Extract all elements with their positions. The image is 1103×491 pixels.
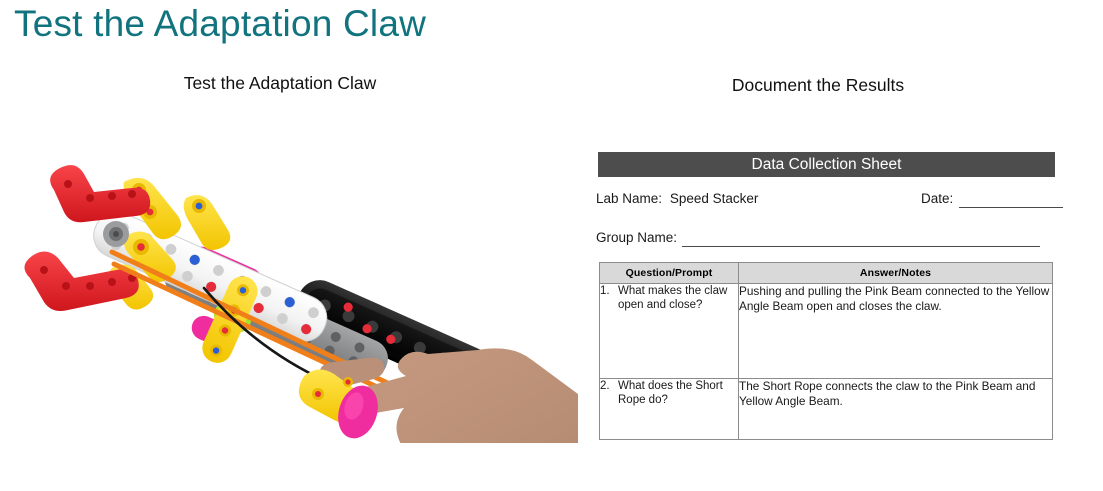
date-field: Date: — [921, 190, 1063, 208]
group-name-label: Group Name: — [596, 230, 677, 245]
group-name-blank-line[interactable] — [682, 233, 1040, 247]
lab-name-value: Speed Stacker — [670, 191, 759, 206]
lego-claw-illustration — [8, 140, 578, 480]
date-label: Date: — [921, 191, 953, 206]
table-row: 2. What does the Short Rope do? The Shor… — [600, 379, 1053, 440]
question-number-2: 2. — [600, 379, 618, 407]
worksheet-banner-title: Data Collection Sheet — [598, 152, 1055, 177]
column-header-question: Question/Prompt — [600, 263, 739, 284]
question-text-1: What makes the claw open and close? — [618, 284, 738, 312]
question-number-1: 1. — [600, 284, 618, 312]
grey-axle-hub-part — [103, 221, 129, 247]
table-row: 1. What makes the claw open and close? P… — [600, 284, 1053, 379]
red-claw-arm-upper-part — [50, 165, 150, 222]
yellow-angle-beam-mid-part — [184, 195, 231, 250]
data-collection-table: Question/Prompt Answer/Notes 1. What mak… — [599, 262, 1053, 440]
table-header-row: Question/Prompt Answer/Notes — [600, 263, 1053, 284]
worksheet-bottom-clip-mask — [0, 443, 1103, 491]
group-name-field: Group Name: — [596, 229, 1040, 247]
question-cell-2: 2. What does the Short Rope do? — [600, 379, 739, 440]
column-header-answer: Answer/Notes — [739, 263, 1053, 284]
data-collection-worksheet: Data Collection Sheet Lab Name: Speed St… — [596, 152, 1056, 452]
answer-cell-1: Pushing and pulling the Pink Beam connec… — [739, 284, 1053, 379]
lego-claw-figure — [8, 140, 578, 480]
date-blank-line[interactable] — [959, 194, 1063, 208]
right-column-heading: Document the Results — [583, 74, 1053, 96]
answer-cell-2: The Short Rope connects the claw to the … — [739, 379, 1053, 440]
lab-name-field: Lab Name: Speed Stacker — [596, 190, 758, 208]
question-cell-1: 1. What makes the claw open and close? — [600, 284, 739, 379]
lab-name-label: Lab Name: — [596, 191, 662, 206]
slide-title: Test the Adaptation Claw — [14, 2, 426, 46]
question-text-2: What does the Short Rope do? — [618, 379, 738, 407]
left-column-heading: Test the Adaptation Claw — [0, 72, 560, 94]
